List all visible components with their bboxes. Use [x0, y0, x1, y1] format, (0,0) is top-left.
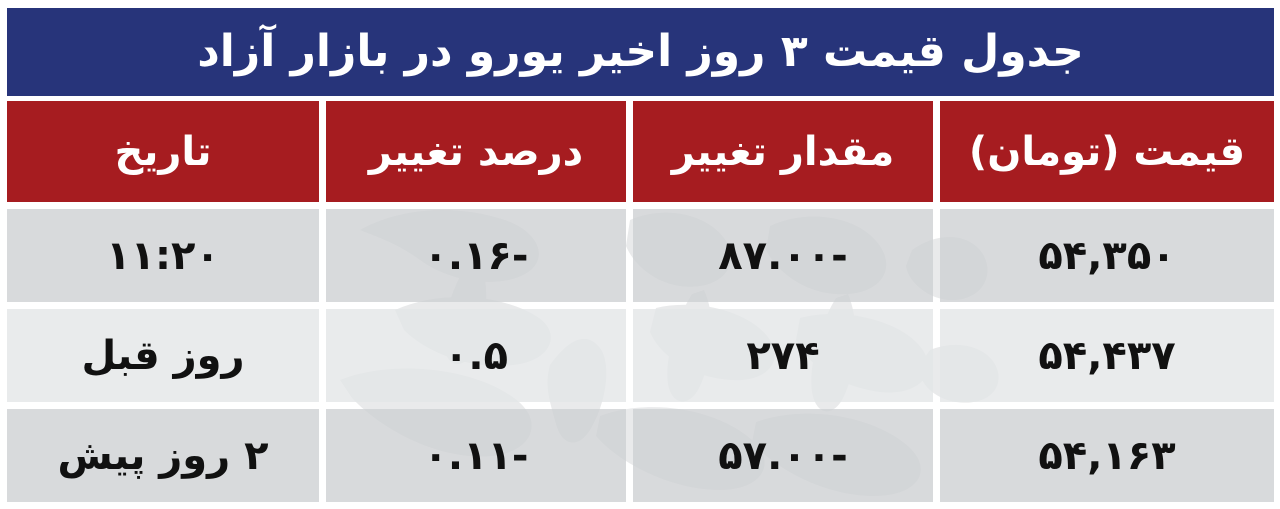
cell-change-percent: -۰.۱۶	[326, 209, 626, 302]
cell-date: ۲ روز پیش	[7, 409, 319, 502]
cell-date: ۱۱:۲۰	[7, 209, 319, 302]
table-header-row: قیمت (تومان) مقدار تغییر درصد تغییر تاری…	[7, 101, 1274, 202]
cell-price: ۵۴,۱۶۳	[940, 409, 1274, 502]
column-header-date: تاریخ	[7, 101, 319, 202]
cell-change-amount: ۲۷۴	[633, 309, 933, 402]
price-table: قیمت (تومان) مقدار تغییر درصد تغییر تاری…	[7, 101, 1274, 502]
cell-change-percent: ۰.۵	[326, 309, 626, 402]
cell-change-percent: -۰.۱۱	[326, 409, 626, 502]
table-row: ۵۴,۱۶۳ -۵۷.۰۰ -۰.۱۱ ۲ روز پیش	[7, 409, 1274, 502]
column-header-price: قیمت (تومان)	[940, 101, 1274, 202]
column-header-change-amount: مقدار تغییر	[633, 101, 933, 202]
table-row: ۵۴,۳۵۰ -۸۷.۰۰ -۰.۱۶ ۱۱:۲۰	[7, 209, 1274, 302]
cell-change-amount: -۵۷.۰۰	[633, 409, 933, 502]
cell-change-amount: -۸۷.۰۰	[633, 209, 933, 302]
cell-price: ۵۴,۳۵۰	[940, 209, 1274, 302]
table-title-bar: جدول قیمت ۳ روز اخیر یورو در بازار آزاد	[7, 8, 1274, 96]
column-header-change-percent: درصد تغییر	[326, 101, 626, 202]
euro-price-table-card: جدول قیمت ۳ روز اخیر یورو در بازار آزاد …	[0, 0, 1280, 509]
page-title: جدول قیمت ۳ روز اخیر یورو در بازار آزاد	[197, 30, 1084, 74]
cell-price: ۵۴,۴۳۷	[940, 309, 1274, 402]
cell-date: روز قبل	[7, 309, 319, 402]
table-row: ۵۴,۴۳۷ ۲۷۴ ۰.۵ روز قبل	[7, 309, 1274, 402]
